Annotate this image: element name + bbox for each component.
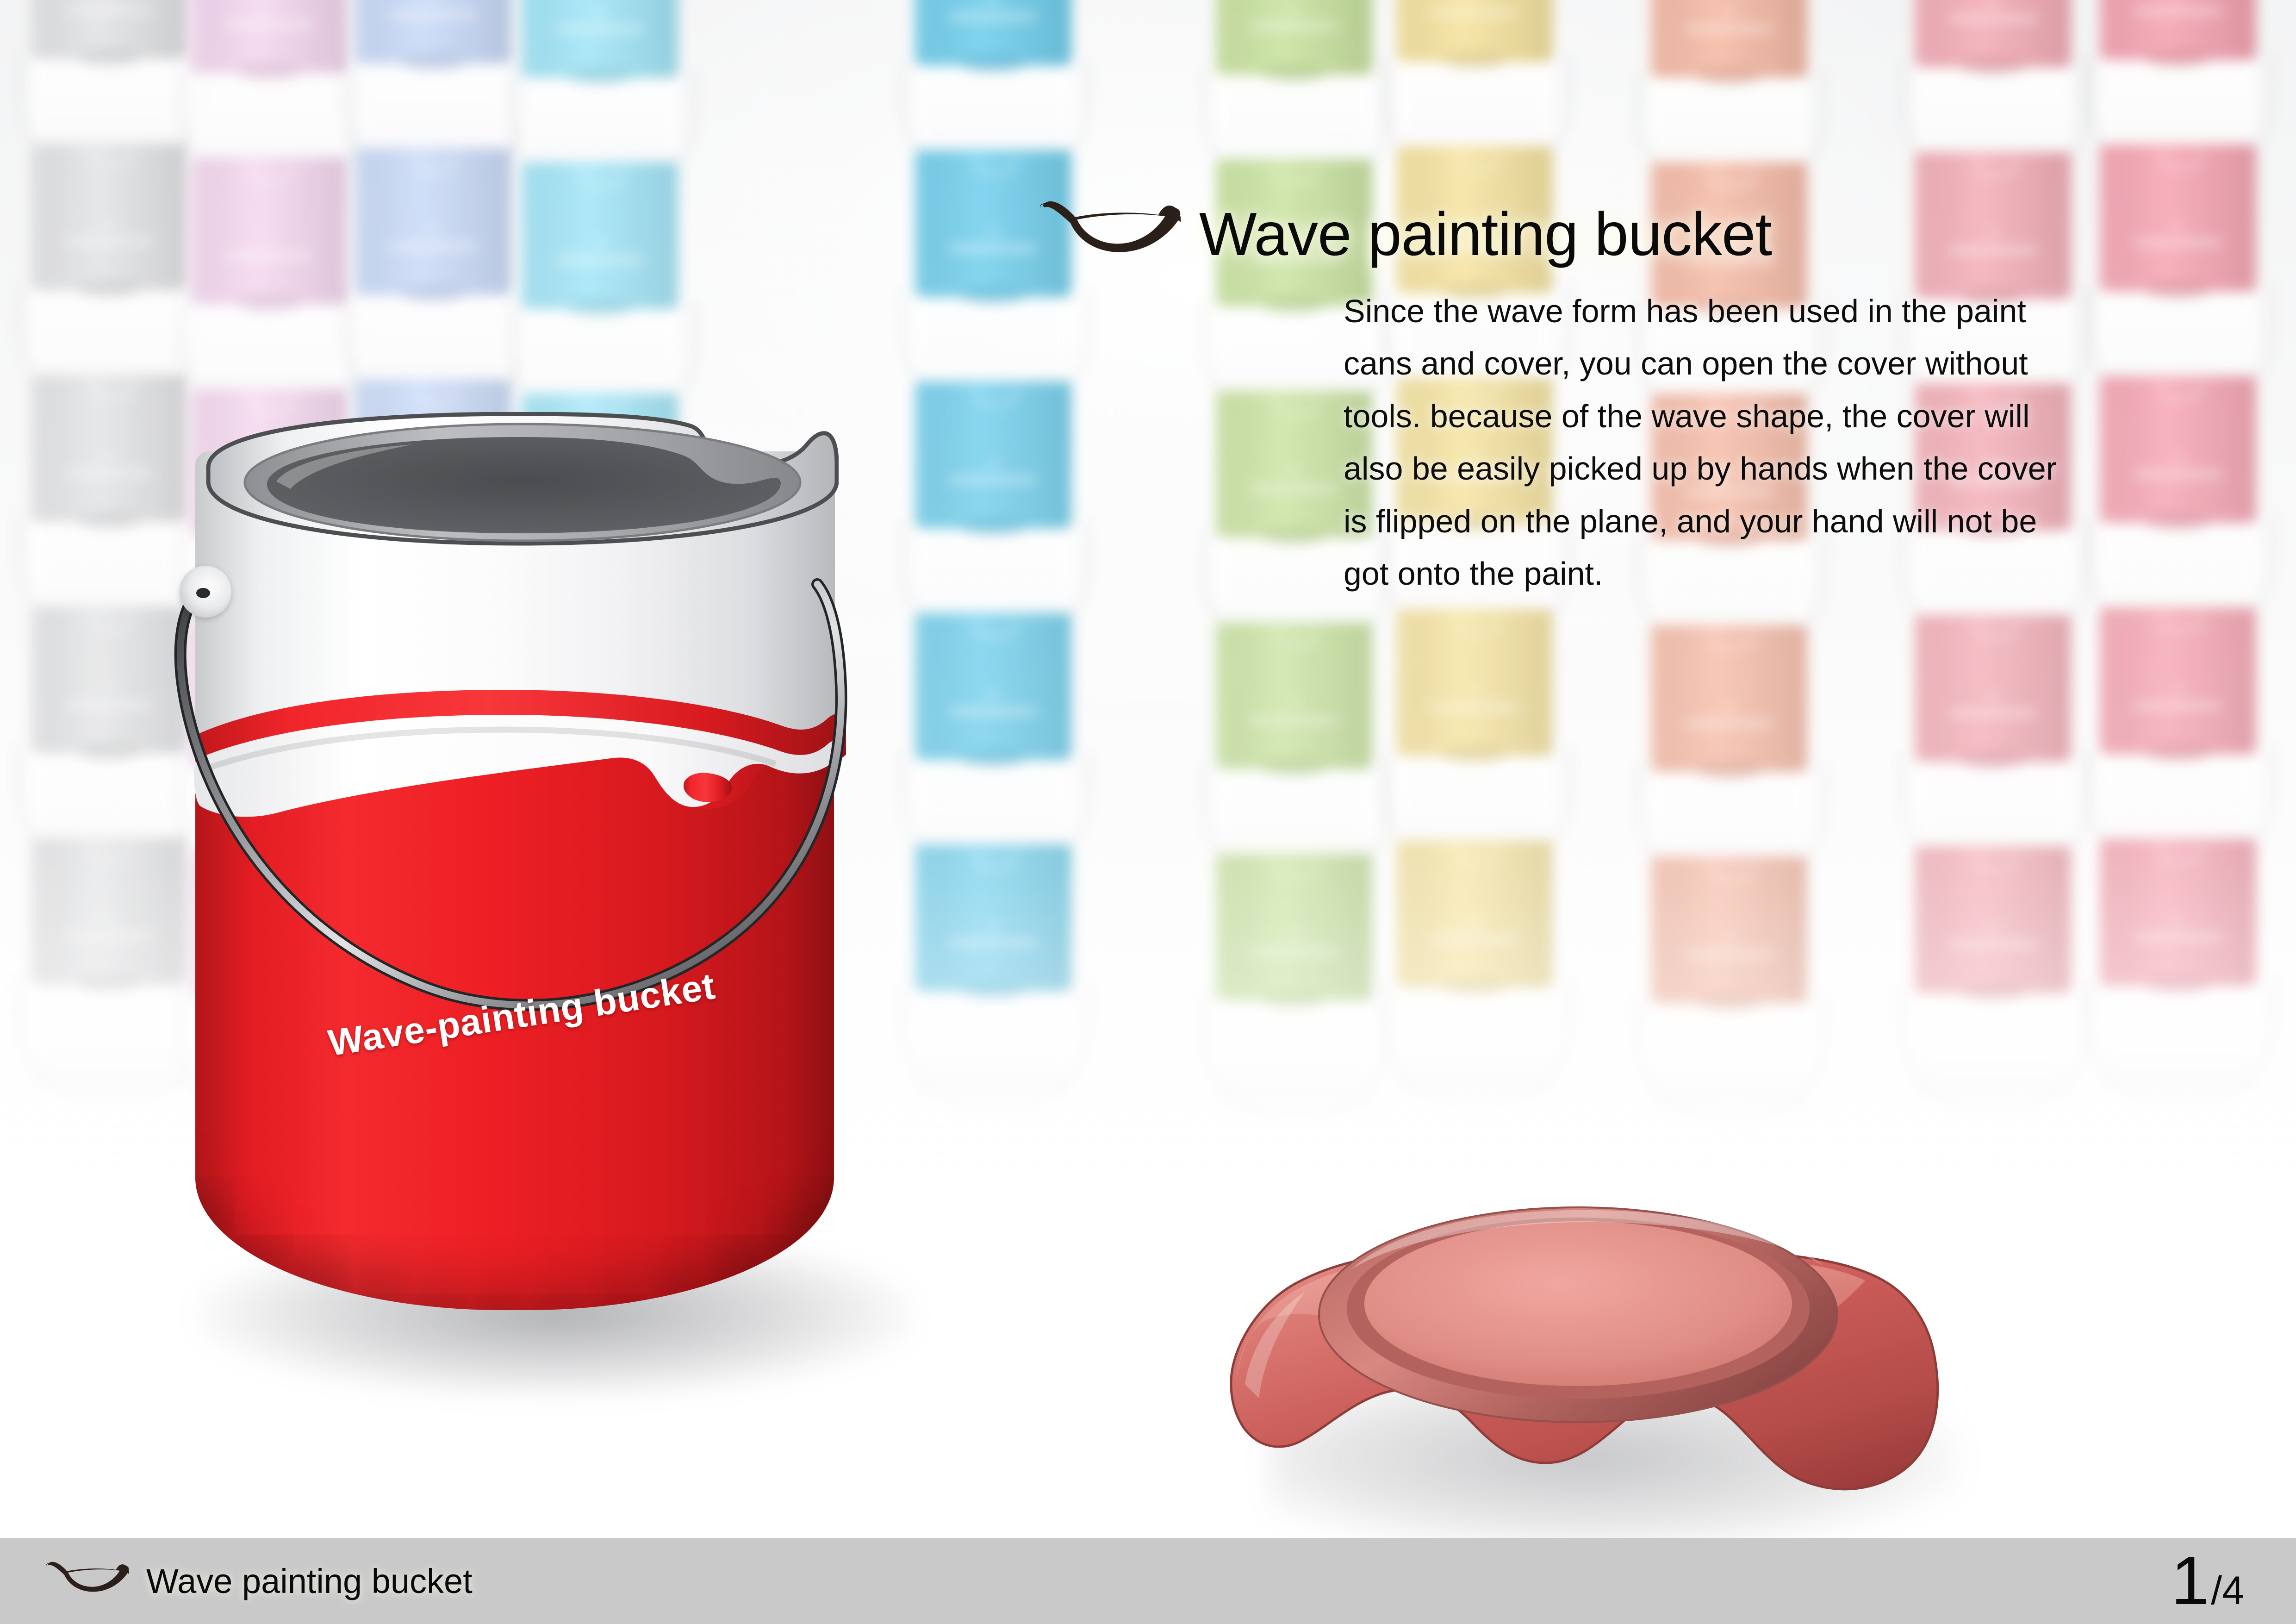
page-total: /4 <box>2211 1574 2244 1607</box>
background-can <box>1911 846 2074 1096</box>
background-can-cap <box>961 56 1026 72</box>
background-can-dot <box>1990 693 1997 700</box>
background-can-body <box>1651 856 1807 1004</box>
background-can-grip <box>1275 861 1318 878</box>
background-can-dot <box>1726 934 1734 942</box>
background-can-grip <box>2159 846 2202 863</box>
background-can-cap <box>961 518 1026 535</box>
bucket-bail-handle[interactable] <box>148 537 944 1153</box>
background-can-cap <box>77 49 142 66</box>
background-can-grip <box>2159 615 2202 631</box>
background-can <box>28 144 191 394</box>
background-can-body <box>191 157 347 305</box>
background-can-label <box>65 702 153 708</box>
background-can-label <box>1250 718 1338 724</box>
background-can <box>1911 0 2074 170</box>
background-can-body <box>1915 846 2071 993</box>
background-can-body <box>2100 607 2256 755</box>
background-can-label <box>1431 10 1518 16</box>
background-can-dot <box>990 922 998 930</box>
background-can-grip <box>90 382 133 399</box>
background-can-grip <box>1710 632 1753 649</box>
background-can-grip <box>1456 617 1499 633</box>
background-can-label <box>1685 952 1773 958</box>
background-can-cap <box>1960 983 2026 1000</box>
page-current: 1 <box>2171 1553 2209 1609</box>
background-can-cap <box>2146 744 2211 761</box>
background-can-dot <box>2175 917 2183 924</box>
background-can-cap <box>1960 752 2026 768</box>
background-can-dot <box>597 240 604 248</box>
wave-paint-lid <box>1213 1167 2092 1537</box>
background-can-grip <box>250 165 293 181</box>
background-can-grip <box>1456 848 1499 865</box>
background-can-body <box>1216 854 1372 1001</box>
background-can-dot <box>1990 924 1997 932</box>
background-can-label <box>65 7 153 13</box>
background-can-label <box>389 244 477 250</box>
background-can-label <box>389 12 477 18</box>
lid-shape <box>1213 1167 2092 1537</box>
bucket-handle-hole <box>196 588 210 598</box>
background-can <box>912 0 1075 169</box>
background-can <box>2097 607 2259 857</box>
background-can-body <box>31 144 187 291</box>
background-can-label <box>556 26 643 32</box>
background-can-cap <box>401 54 466 70</box>
background-can-label <box>1431 705 1518 711</box>
background-can-bail <box>1638 995 1825 1118</box>
background-can <box>1213 622 1375 872</box>
background-can-cap <box>2146 976 2211 993</box>
background-can <box>2097 0 2259 163</box>
background-can-dot <box>1291 6 1299 13</box>
background-can-dot <box>106 684 114 692</box>
background-can-bail <box>1902 985 2089 1108</box>
background-can-label <box>2134 8 2221 14</box>
background-can-dot <box>1726 703 1734 711</box>
footer-title: Wave painting bucket <box>146 1562 473 1601</box>
background-can-cap <box>1262 759 1327 776</box>
header-description: Since the wave form has been used in the… <box>1344 285 2066 600</box>
background-can-body <box>1396 609 1553 756</box>
background-can-label <box>65 933 153 939</box>
background-can-grip <box>90 151 133 168</box>
background-can-dot <box>266 235 274 243</box>
background-can-bail <box>1203 993 1390 1115</box>
background-can <box>1393 609 1556 859</box>
background-can-grip <box>581 169 624 186</box>
background-can-dot <box>2175 685 2183 693</box>
background-can-dot <box>106 221 114 229</box>
background-can-label <box>1949 710 2036 716</box>
background-can-grip <box>1710 169 1753 186</box>
background-can-cap <box>2146 50 2211 67</box>
background-can-cap <box>1697 993 1762 1010</box>
background-can-dot <box>990 228 998 236</box>
background-can-label <box>65 239 153 245</box>
background-can-label <box>1949 16 2036 22</box>
background-can-bail <box>2087 978 2274 1100</box>
background-can <box>1648 625 1811 875</box>
background-can-grip <box>2159 152 2202 169</box>
header-block: Wave painting bucket Since the wave form… <box>1034 194 2238 600</box>
background-can-dot <box>106 916 114 924</box>
background-can <box>1213 854 1375 1104</box>
background-can-cap <box>77 281 142 297</box>
background-can <box>518 0 681 181</box>
background-can-cap <box>1697 68 1762 84</box>
background-can-body <box>1216 622 1372 769</box>
background-can-bail <box>1383 980 1570 1102</box>
background-can-body <box>1651 625 1807 772</box>
background-can-grip <box>1974 622 2017 639</box>
background-can <box>1213 0 1375 178</box>
background-can-cap <box>77 512 142 529</box>
background-can <box>1911 615 2074 865</box>
background-can-label <box>949 14 1037 20</box>
background-can-cap <box>236 294 302 311</box>
background-can-cap <box>961 981 1026 998</box>
background-can-label <box>65 470 153 476</box>
presentation-board: Wave-painting bucket <box>0 0 2296 1624</box>
background-can-body <box>522 0 678 78</box>
background-can-dot <box>1726 8 1734 16</box>
background-can <box>1648 856 1811 1106</box>
background-can-dot <box>990 0 998 4</box>
background-can-cap <box>1262 991 1327 1007</box>
wave-bucket-logo-icon <box>1034 194 1182 273</box>
background-can-grip <box>1275 630 1318 646</box>
background-can-body <box>1396 841 1553 988</box>
bucket-handle-boss <box>180 566 231 618</box>
background-can-label <box>1685 720 1773 726</box>
background-can-grip <box>974 389 1017 406</box>
background-can-label <box>1250 949 1338 955</box>
page-title: Wave painting bucket <box>1199 199 1772 269</box>
background-can-dot <box>1291 931 1299 939</box>
page-indicator: 1 /4 <box>2171 1553 2244 1609</box>
background-can-cap <box>961 750 1026 767</box>
background-can-cap <box>1262 65 1327 81</box>
background-can-dot <box>1471 918 1479 926</box>
background-can-label <box>1250 23 1338 29</box>
background-can-label <box>2134 934 2221 940</box>
background-can-grip <box>90 614 133 631</box>
background-can <box>352 0 515 167</box>
background-can-grip <box>414 156 457 172</box>
background-can-grip <box>1275 167 1318 183</box>
background-can-label <box>225 253 312 259</box>
background-can-body <box>2100 839 2256 986</box>
background-can-cap <box>236 63 302 80</box>
background-can-cap <box>1960 57 2026 74</box>
background-can-cap <box>567 68 633 84</box>
background-can-body <box>1915 615 2071 762</box>
background-can-dot <box>990 459 998 467</box>
background-can-dot <box>430 0 438 2</box>
background-can-dot <box>430 226 438 234</box>
background-can-label <box>556 257 643 263</box>
background-can-dot <box>990 691 998 699</box>
background-can-dot <box>266 4 274 12</box>
background-can-dot <box>1471 687 1479 695</box>
background-can-dot <box>1291 700 1299 708</box>
background-can-grip <box>1974 854 2017 870</box>
background-can-cap <box>77 743 142 760</box>
background-can-cap <box>77 975 142 992</box>
background-can-cap <box>1442 746 1507 763</box>
background-can-dot <box>106 453 114 461</box>
background-can-body <box>191 0 347 73</box>
background-can-label <box>225 21 312 27</box>
background-can-dot <box>1990 0 1997 6</box>
footer-logo <box>43 1558 131 1604</box>
background-can-cap <box>401 285 466 302</box>
wave-bucket-logo-icon <box>43 1558 131 1604</box>
background-can-cap <box>1697 762 1762 779</box>
background-can-label <box>2134 703 2221 709</box>
background-can-label <box>1685 26 1773 32</box>
background-can-dot <box>1471 0 1479 0</box>
background-can-cap <box>1442 52 1507 69</box>
background-can-label <box>1949 942 2036 948</box>
footer-bar: Wave painting bucket 1 /4 <box>0 1538 2296 1624</box>
background-can-body <box>1216 0 1372 75</box>
background-can-cap <box>567 299 633 316</box>
background-can <box>28 0 191 162</box>
background-can <box>1393 0 1556 165</box>
background-can-cap <box>1442 978 1507 994</box>
background-can <box>1648 0 1811 181</box>
background-can-grip <box>974 620 1017 637</box>
background-can <box>187 0 350 176</box>
background-can-grip <box>974 852 1017 868</box>
background-can-body <box>1651 0 1807 78</box>
background-can <box>2097 839 2259 1089</box>
background-can-label <box>949 245 1037 251</box>
background-can-grip <box>1456 154 1499 170</box>
background-can-grip <box>974 157 1017 174</box>
background-can-dot <box>597 8 604 16</box>
background-can-grip <box>1974 159 2017 176</box>
background-can-body <box>522 162 678 309</box>
background-can-cap <box>961 287 1026 304</box>
background-can-grip <box>90 845 133 862</box>
background-can-body <box>355 148 511 295</box>
background-can <box>1393 841 1556 1091</box>
background-can-grip <box>1710 864 1753 881</box>
background-can <box>352 148 515 398</box>
main-paint-bucket: Wave-painting bucket <box>153 366 967 1366</box>
background-can-label <box>1431 936 1518 942</box>
